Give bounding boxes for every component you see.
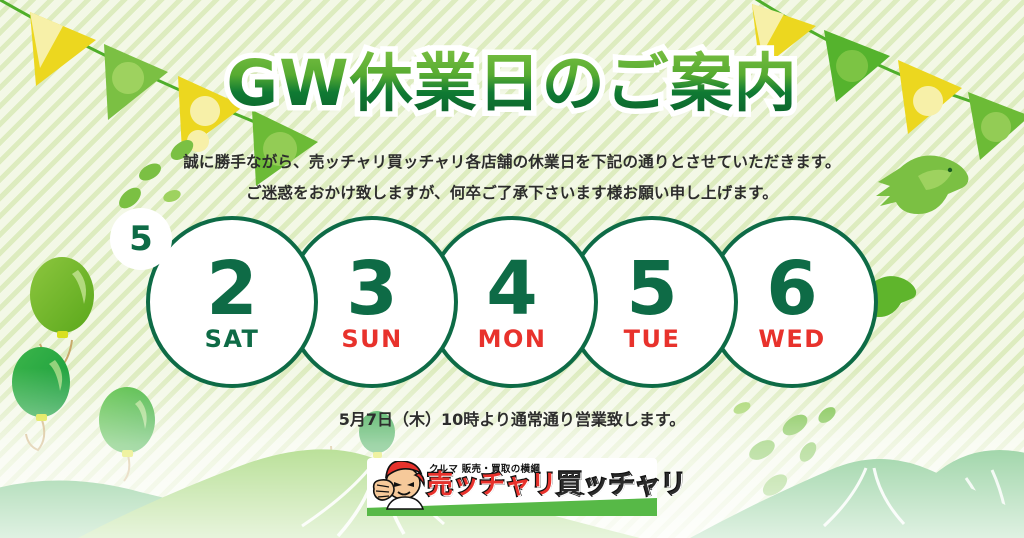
day-weekday: WED <box>758 325 825 353</box>
bunting-flag <box>252 110 318 186</box>
reopen-note: 5月7日（木）10時より通常通り営業致します。 <box>0 406 1024 430</box>
gw-holiday-banner: GW休業日のご案内 GW休業日のご案内 誠に勝手ながら、売ッチャリ買ッチャリ各店… <box>0 0 1024 538</box>
month-badge: 5 <box>110 208 172 270</box>
lead-line-1: 誠に勝手ながら、売ッチャリ買ッチャリ各店舗の休業日を下記の通りとさせていただきま… <box>0 150 1024 172</box>
day-number: 4 <box>486 255 538 323</box>
logo-buy-text: 買ッチャリ <box>557 470 687 500</box>
lead-line-2: ご迷惑をおかけ致しますが、何卒ご了承下さいます様お願い申し上げます。 <box>0 181 1024 203</box>
month-number: 5 <box>129 222 153 256</box>
day-number: 2 <box>206 255 258 323</box>
day-weekday: TUE <box>624 325 681 353</box>
page-title: GW休業日のご案内 GW休業日のご案内 <box>0 52 1024 115</box>
mascot-icon <box>371 461 425 513</box>
logo-sell-text: 売ッチャリ <box>427 470 557 500</box>
day-number: 5 <box>626 255 678 323</box>
title-text: GW休業日のご案内 <box>226 47 797 120</box>
logo-wordmark: 売ッチャリ買ッチャリ <box>427 472 687 498</box>
day-weekday: SAT <box>205 325 260 353</box>
day-weekday: SUN <box>341 325 402 353</box>
day-number: 6 <box>766 255 818 323</box>
company-logo[interactable]: クルマ 販売・買取の横綱 売ッチャリ買ッチャリ <box>367 458 657 516</box>
day-number: 3 <box>346 255 398 323</box>
day-weekday: MON <box>478 325 547 353</box>
